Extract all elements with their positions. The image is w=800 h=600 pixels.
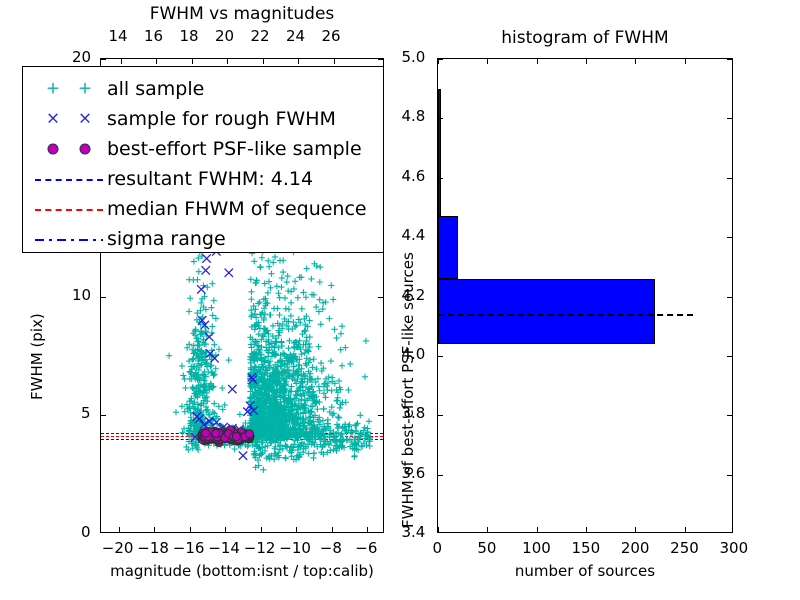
scatter-point-all-sample xyxy=(271,305,277,311)
scatter-point-all-sample xyxy=(284,279,290,285)
right-ticks-mark-22 xyxy=(438,297,443,298)
scatter-point-all-sample xyxy=(313,304,319,310)
scatter-point-all-sample xyxy=(216,346,222,352)
scatter-point-all-sample xyxy=(219,385,225,391)
left-ticks-mark-17 xyxy=(101,415,106,416)
right-ticks-mark-6 xyxy=(586,527,587,532)
left-top-ticklabels-4: 22 xyxy=(251,27,270,45)
plus-marker-icon: + xyxy=(78,81,92,98)
scatter-point-all-sample xyxy=(216,403,222,409)
legend-entries: ++all sample××sample for rough FWHMbest-… xyxy=(31,74,373,254)
left-ticks-mark-7 xyxy=(367,527,368,532)
scatter-point-all-sample xyxy=(179,430,185,436)
scatter-point-all-sample xyxy=(274,283,280,289)
left-ticks-mark-12 xyxy=(263,59,264,64)
left-ticks-mark-10 xyxy=(192,59,193,64)
left-top-ticklabels-1: 16 xyxy=(144,27,163,45)
left-bottom-ticklabels-7: −6 xyxy=(355,539,377,557)
right-ticks-mark-10 xyxy=(685,527,686,532)
scatter-point-all-sample xyxy=(311,356,317,362)
scatter-point-all-sample xyxy=(331,326,337,332)
scatter-point-all-sample xyxy=(186,308,192,314)
right-ticks-mark-5 xyxy=(537,59,538,64)
scatter-point-all-sample xyxy=(276,312,282,318)
scatter-point-all-sample xyxy=(280,269,286,275)
scatter-point-all-sample xyxy=(322,394,328,400)
right-ticks-mark-18 xyxy=(438,415,443,416)
scatter-point-all-sample xyxy=(189,385,195,391)
scatter-point-all-sample xyxy=(179,403,185,409)
right-y-ticklabels-8: 5.0 xyxy=(402,48,426,66)
right-y-ticklabels-6: 4.6 xyxy=(402,167,426,185)
dashed-line-icon xyxy=(35,179,103,181)
scatter-point-all-sample xyxy=(280,257,286,263)
scatter-point-all-sample xyxy=(248,276,254,282)
legend-entry[interactable]: resultant FWHM: 4.14 xyxy=(31,164,373,194)
scatter-point-all-sample xyxy=(304,265,310,271)
left-bottom-ticklabels-3: −14 xyxy=(208,539,240,557)
scatter-point-all-sample xyxy=(275,290,281,296)
histogram-plot-area xyxy=(437,58,733,533)
scatter-point-rough-sample xyxy=(202,266,210,274)
left-ticks-mark-6 xyxy=(332,527,333,532)
right-ticks-mark-21 xyxy=(727,356,732,357)
scatter-point-psf-sample xyxy=(246,430,254,438)
right-ticks-mark-26 xyxy=(438,178,443,179)
scatter-point-all-sample xyxy=(248,296,254,302)
right-ticks-mark-31 xyxy=(727,59,732,60)
scatter-point-all-sample xyxy=(283,306,289,312)
legend-entry[interactable]: ++all sample xyxy=(31,74,373,104)
scatter-point-all-sample xyxy=(334,335,340,341)
scatter-point-all-sample xyxy=(265,258,271,264)
scatter-point-all-sample xyxy=(226,357,232,363)
scatter-point-all-sample xyxy=(282,295,288,301)
scatter-point-all-sample xyxy=(362,374,368,380)
legend-entry-label: all sample xyxy=(107,80,204,99)
scatter-point-all-sample xyxy=(347,361,353,367)
right-ticks-mark-4 xyxy=(537,527,538,532)
scatter-point-all-sample xyxy=(196,269,202,275)
scatter-point-all-sample xyxy=(208,362,214,368)
plus-marker-icon: + xyxy=(46,81,60,98)
legend-entry[interactable]: sigma range xyxy=(31,224,373,254)
scatter-point-all-sample xyxy=(283,455,289,461)
scatter-point-all-sample xyxy=(338,331,344,337)
scatter-point-rough-sample xyxy=(197,285,205,293)
left-ticks-mark-2 xyxy=(190,527,191,532)
legend-entry[interactable]: median FHWM of sequence xyxy=(31,194,373,224)
left-ticks-mark-4 xyxy=(261,527,262,532)
right-ticks-mark-23 xyxy=(727,297,732,298)
right-y-ticklabels-7: 4.8 xyxy=(402,107,426,125)
dashdot-line-icon xyxy=(35,239,103,241)
scatter-point-all-sample xyxy=(328,358,334,364)
left-panel-title: FWHM vs magnitudes xyxy=(100,4,384,24)
scatter-point-all-sample xyxy=(180,372,186,378)
scatter-point-all-sample xyxy=(353,422,359,428)
scatter-point-all-sample xyxy=(270,259,276,265)
scatter-point-all-sample xyxy=(277,295,283,301)
right-ticks-mark-3 xyxy=(487,59,488,64)
left-ticks-mark-21 xyxy=(101,59,106,60)
scatter-point-all-sample xyxy=(320,418,326,424)
scatter-point-all-sample xyxy=(179,363,185,369)
left-xlabel: magnitude (bottom:isnt / top:calib) xyxy=(100,562,384,580)
scatter-point-all-sample xyxy=(311,450,317,456)
scatter-point-all-sample xyxy=(326,316,332,322)
right-ticks-mark-7 xyxy=(586,59,587,64)
left-top-ticklabels-6: 26 xyxy=(322,27,341,45)
scatter-point-all-sample xyxy=(296,316,302,322)
left-y-ticklabels-2: 10 xyxy=(72,286,91,304)
legend-entry-label: median FHWM of sequence xyxy=(107,200,367,219)
right-ylabel: FWHM of best-effort PSF-like sources xyxy=(399,252,417,528)
scatter-point-all-sample xyxy=(317,264,323,270)
right-xlabel: number of sources xyxy=(437,562,733,580)
figure-canvas: FWHM vs magnitudes 14161820222426 −20−18… xyxy=(0,0,800,600)
right-x-ticklabels-5: 250 xyxy=(670,539,699,557)
dashed-line-icon xyxy=(35,209,103,211)
scatter-point-all-sample xyxy=(315,344,321,350)
scatter-point-all-sample xyxy=(318,321,324,327)
histogram-resultant-marker xyxy=(438,314,693,316)
left-top-ticklabels-0: 14 xyxy=(109,27,128,45)
right-x-ticklabels-0: 0 xyxy=(433,539,443,557)
scatter-point-all-sample xyxy=(209,323,215,329)
scatter-point-all-sample xyxy=(334,398,340,404)
scatter-point-all-sample xyxy=(251,258,257,264)
right-ticks-mark-0 xyxy=(438,527,439,532)
histogram-bar xyxy=(438,216,458,278)
left-ticks-mark-0 xyxy=(119,527,120,532)
scatter-point-all-sample xyxy=(257,299,263,305)
right-x-ticklabels-2: 100 xyxy=(522,539,551,557)
scatter-point-all-sample xyxy=(362,425,368,431)
scatter-point-psf-sample xyxy=(212,429,220,437)
legend-entry-label: sigma range xyxy=(107,230,226,249)
scatter-point-all-sample xyxy=(257,264,263,270)
scatter-point-all-sample xyxy=(292,278,298,284)
right-ticks-mark-24 xyxy=(438,237,443,238)
scatter-point-all-sample xyxy=(367,443,373,449)
legend-entry-label: best-effort PSF-like sample xyxy=(107,140,362,159)
scatter-point-all-sample xyxy=(335,414,341,420)
right-ticks-mark-2 xyxy=(487,527,488,532)
scatter-point-all-sample xyxy=(285,288,291,294)
scatter-point-psf-sample xyxy=(202,429,210,437)
legend-entry-label: resultant FWHM: 4.14 xyxy=(107,170,313,189)
scatter-point-all-sample xyxy=(208,305,214,311)
scatter-point-all-sample xyxy=(232,446,238,452)
left-top-ticklabels-3: 20 xyxy=(215,27,234,45)
scatter-point-all-sample xyxy=(285,345,291,351)
scatter-point-all-sample xyxy=(328,388,334,394)
scatter-point-rough-sample xyxy=(239,451,247,459)
scatter-point-all-sample xyxy=(321,406,327,412)
scatter-point-all-sample xyxy=(166,353,172,359)
scatter-point-all-sample xyxy=(317,279,323,285)
scatter-point-all-sample xyxy=(278,284,284,290)
scatter-point-rough-sample xyxy=(228,385,236,393)
scatter-point-all-sample xyxy=(316,383,322,389)
right-ticks-mark-11 xyxy=(685,59,686,64)
circle-marker-icon xyxy=(80,144,91,155)
scatter-point-all-sample xyxy=(252,311,258,317)
left-ticks-mark-13 xyxy=(298,59,299,64)
right-ticks-mark-28 xyxy=(438,118,443,119)
scatter-point-all-sample xyxy=(286,306,292,312)
scatter-point-all-sample xyxy=(299,306,305,312)
scatter-point-all-sample xyxy=(331,410,337,416)
right-y-ticklabels-5: 4.4 xyxy=(402,226,426,244)
scatter-point-all-sample xyxy=(295,295,301,301)
scatter-point-all-sample xyxy=(285,273,291,279)
left-y-ticklabels-1: 5 xyxy=(81,404,91,422)
scatter-point-all-sample xyxy=(329,375,335,381)
left-top-ticklabels-2: 18 xyxy=(180,27,199,45)
left-ticks-mark-20 xyxy=(378,297,383,298)
legend[interactable]: ++all sample××sample for rough FWHMbest-… xyxy=(22,66,384,253)
scatter-point-all-sample xyxy=(201,341,207,347)
left-bottom-ticklabels-4: −12 xyxy=(244,539,276,557)
right-ticks-mark-16 xyxy=(438,475,443,476)
legend-entry[interactable]: best-effort PSF-like sample xyxy=(31,134,373,164)
cross-marker-icon: × xyxy=(78,111,92,128)
scatter-point-all-sample xyxy=(191,258,197,264)
left-ylabel: FWHM (pix) xyxy=(28,313,46,400)
right-ticks-mark-9 xyxy=(635,59,636,64)
scatter-point-all-sample xyxy=(186,277,192,283)
scatter-point-all-sample xyxy=(267,312,273,318)
right-x-ticklabels-6: 300 xyxy=(720,539,749,557)
left-ticks-mark-3 xyxy=(225,527,226,532)
scatter-point-all-sample xyxy=(187,295,193,301)
scatter-point-all-sample xyxy=(210,312,216,318)
left-y-ticklabels-3: 20 xyxy=(72,48,91,66)
scatter-point-all-sample xyxy=(211,400,217,406)
left-bottom-ticklabels-2: −16 xyxy=(173,539,205,557)
right-ticks-mark-25 xyxy=(727,237,732,238)
scatter-point-all-sample xyxy=(351,454,357,460)
right-ticks-mark-20 xyxy=(438,356,443,357)
left-ticks-mark-19 xyxy=(101,297,106,298)
scatter-point-all-sample xyxy=(211,298,217,304)
circle-marker-icon xyxy=(48,144,59,155)
right-x-ticklabels-3: 150 xyxy=(572,539,601,557)
right-ticks-mark-17 xyxy=(727,475,732,476)
right-panel-title: histogram of FWHM xyxy=(437,28,733,48)
left-bottom-ticklabels-0: −20 xyxy=(102,539,134,557)
scatter-point-all-sample xyxy=(366,418,372,424)
scatter-point-all-sample xyxy=(209,281,215,287)
scatter-point-all-sample xyxy=(248,289,254,295)
left-bottom-ticklabels-1: −18 xyxy=(137,539,169,557)
left-ticks-mark-1 xyxy=(154,527,155,532)
scatter-point-all-sample xyxy=(259,255,265,261)
scatter-point-all-sample xyxy=(339,363,345,369)
right-ticks-mark-19 xyxy=(727,415,732,416)
right-ticks-mark-30 xyxy=(438,59,443,60)
right-x-ticklabels-1: 50 xyxy=(477,539,496,557)
scatter-point-rough-sample xyxy=(225,269,233,277)
scatter-point-all-sample xyxy=(272,254,278,260)
right-ticks-mark-29 xyxy=(727,118,732,119)
scatter-point-all-sample xyxy=(310,455,316,461)
scatter-point-all-sample xyxy=(288,313,294,319)
scatter-point-all-sample xyxy=(213,366,219,372)
right-ticks-mark-8 xyxy=(635,527,636,532)
left-ticks-mark-22 xyxy=(378,59,383,60)
scatter-point-all-sample xyxy=(213,315,219,321)
histogram-bar xyxy=(438,89,441,217)
scatter-point-all-sample xyxy=(268,271,274,277)
scatter-point-all-sample xyxy=(357,412,363,418)
left-ticks-mark-8 xyxy=(121,59,122,64)
left-ticks-mark-11 xyxy=(227,59,228,64)
scatter-point-all-sample xyxy=(308,276,314,282)
scatter-point-all-sample xyxy=(336,415,342,421)
scatter-point-all-sample xyxy=(181,376,187,382)
scatter-point-all-sample xyxy=(266,264,272,270)
scatter-point-all-sample xyxy=(189,356,195,362)
cross-marker-icon: × xyxy=(46,111,60,128)
scatter-point-all-sample xyxy=(173,409,179,415)
scatter-point-all-sample xyxy=(345,387,351,393)
right-x-ticklabels-4: 200 xyxy=(621,539,650,557)
scatter-point-all-sample xyxy=(339,323,345,329)
scatter-point-all-sample xyxy=(288,300,294,306)
scatter-point-rough-sample xyxy=(205,333,213,341)
left-bottom-ticklabels-5: −10 xyxy=(279,539,311,557)
histogram-bar xyxy=(438,279,655,344)
scatter-point-all-sample xyxy=(296,338,302,344)
legend-entry[interactable]: ××sample for rough FWHM xyxy=(31,104,373,134)
left-top-ticklabels-5: 24 xyxy=(286,27,305,45)
left-ticks-mark-5 xyxy=(296,527,297,532)
scatter-point-all-sample xyxy=(328,282,334,288)
left-bottom-ticklabels-6: −8 xyxy=(320,539,342,557)
scatter-point-all-sample xyxy=(211,342,217,348)
scatter-point-all-sample xyxy=(182,385,188,391)
scatter-point-all-sample xyxy=(337,405,343,411)
left-y-ticklabels-0: 0 xyxy=(81,523,91,541)
left-ticks-mark-9 xyxy=(156,59,157,64)
scatter-point-all-sample xyxy=(260,467,266,473)
legend-entry-label: sample for rough FWHM xyxy=(107,110,336,129)
scatter-point-all-sample xyxy=(363,338,369,344)
scatter-point-all-sample xyxy=(330,296,336,302)
left-ticks-mark-14 xyxy=(334,59,335,64)
scatter-point-psf-sample xyxy=(232,433,240,441)
scatter-point-all-sample xyxy=(237,411,243,417)
scatter-point-rough-sample xyxy=(202,254,210,262)
left-ticks-mark-18 xyxy=(378,415,383,416)
scatter-point-all-sample xyxy=(279,275,285,281)
right-ticks-mark-27 xyxy=(727,178,732,179)
scatter-point-all-sample xyxy=(317,297,323,303)
